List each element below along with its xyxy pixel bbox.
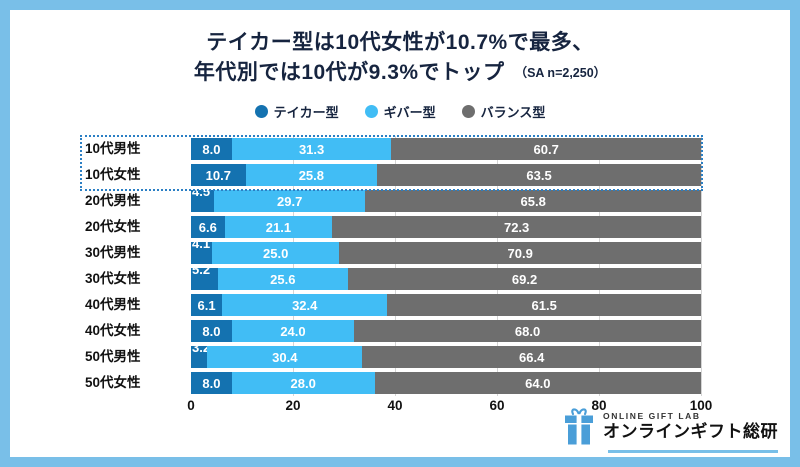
bar-segment-value: 31.3 <box>299 143 324 156</box>
bar-segment-value: 25.0 <box>263 247 288 260</box>
chart-title-line-1: テイカー型は10代女性が10.7%で最多、 <box>10 28 790 58</box>
stacked-bar: 10.725.863.5 <box>191 164 701 186</box>
chart-page: テイカー型は10代女性が10.7%で最多、 年代別では10代が9.3%でトップ（… <box>0 0 800 467</box>
stacked-bar: 8.031.360.7 <box>191 138 701 160</box>
stacked-bar: 3.230.466.4 <box>191 346 701 368</box>
x-axis-tick-label: 40 <box>387 398 402 413</box>
x-axis-tick-label: 0 <box>187 398 195 413</box>
bar-segment-value: 4.5 <box>192 185 210 198</box>
legend-item-3[interactable]: バランス型 <box>462 102 546 121</box>
bar-segment-taker: 10.7 <box>191 164 246 186</box>
chart-bar-row: 30代女性5.225.669.2 <box>10 266 790 292</box>
bar-segment-value: 24.0 <box>280 325 305 338</box>
gift-box-icon <box>564 407 594 445</box>
bar-segment-giver: 31.3 <box>232 138 392 160</box>
bar-segment-giver: 25.6 <box>218 268 349 290</box>
chart-bar-row: 30代男性4.125.070.9 <box>10 240 790 266</box>
bar-segment-balance: 68.0 <box>354 320 701 342</box>
bar-segment-balance: 72.3 <box>332 216 701 238</box>
chart-title-block: テイカー型は10代女性が10.7%で最多、 年代別では10代が9.3%でトップ（… <box>10 28 790 88</box>
brand-logo: ONLINE GIFT LAB オンラインギフト総研 <box>564 407 778 445</box>
bar-row-label: 10代男性 <box>85 136 185 162</box>
circle-marker-icon <box>462 105 475 118</box>
chart-plot-area: 10代男性8.031.360.710代女性10.725.863.520代男性4.… <box>10 136 790 398</box>
chart-title-line-2: 年代別では10代が9.3%でトップ <box>194 58 505 88</box>
bar-segment-value: 6.1 <box>198 299 216 312</box>
bar-row-label: 10代女性 <box>85 162 185 188</box>
legend-item-label: バランス型 <box>481 102 546 121</box>
bar-segment-taker: 3.2 <box>191 346 207 368</box>
bar-segment-value: 72.3 <box>504 221 529 234</box>
bar-segment-value: 25.6 <box>270 273 295 286</box>
brand-logo-text-jp: オンラインギフト総研 <box>603 422 778 442</box>
bar-row-label: 40代男性 <box>85 292 185 318</box>
bar-segment-taker: 6.1 <box>191 294 222 316</box>
chart-bar-row: 40代女性8.024.068.0 <box>10 318 790 344</box>
chart-bar-row: 10代男性8.031.360.7 <box>10 136 790 162</box>
bar-segment-giver: 32.4 <box>222 294 387 316</box>
bar-segment-value: 4.1 <box>192 237 210 250</box>
bar-segment-balance: 70.9 <box>339 242 701 264</box>
bar-segment-value: 8.0 <box>202 143 220 156</box>
bar-segment-giver: 21.1 <box>225 216 333 238</box>
chart-bar-row: 20代女性6.621.172.3 <box>10 214 790 240</box>
chart-legend: テイカー型ギバー型バランス型 <box>10 102 790 121</box>
bar-segment-balance: 69.2 <box>348 268 701 290</box>
stacked-bar: 5.225.669.2 <box>191 268 701 290</box>
bar-segment-value: 8.0 <box>202 377 220 390</box>
bar-segment-giver: 30.4 <box>207 346 362 368</box>
x-axis-tick-label: 60 <box>489 398 504 413</box>
bar-segment-value: 70.9 <box>508 247 533 260</box>
bar-row-label: 50代男性 <box>85 344 185 370</box>
bar-segment-value: 6.6 <box>199 221 217 234</box>
bar-segment-value: 32.4 <box>292 299 317 312</box>
bar-row-label: 30代女性 <box>85 266 185 292</box>
logo-underline-divider <box>608 450 778 453</box>
bar-segment-value: 8.0 <box>202 325 220 338</box>
circle-marker-icon <box>365 105 378 118</box>
bar-segment-taker: 8.0 <box>191 138 232 160</box>
bar-segment-balance: 66.4 <box>362 346 701 368</box>
chart-bar-row: 20代男性4.529.765.8 <box>10 188 790 214</box>
legend-item-1[interactable]: テイカー型 <box>255 102 339 121</box>
bar-segment-taker: 4.5 <box>191 190 214 212</box>
brand-logo-text: ONLINE GIFT LAB オンラインギフト総研 <box>603 411 778 442</box>
stacked-bar: 8.028.064.0 <box>191 372 701 394</box>
stacked-bar: 6.621.172.3 <box>191 216 701 238</box>
bar-segment-value: 68.0 <box>515 325 540 338</box>
bar-segment-giver: 24.0 <box>232 320 354 342</box>
bar-segment-value: 28.0 <box>291 377 316 390</box>
bar-row-label: 30代男性 <box>85 240 185 266</box>
bar-row-label: 40代女性 <box>85 318 185 344</box>
bar-segment-value: 25.8 <box>299 169 324 182</box>
legend-item-label: テイカー型 <box>274 102 339 121</box>
chart-bar-row: 50代女性8.028.064.0 <box>10 370 790 396</box>
bar-segment-balance: 61.5 <box>387 294 701 316</box>
bar-segment-balance: 64.0 <box>375 372 701 394</box>
bar-segment-value: 63.5 <box>526 169 551 182</box>
x-axis-tick-label: 20 <box>285 398 300 413</box>
bar-row-label: 50代女性 <box>85 370 185 396</box>
chart-bar-rows: 10代男性8.031.360.710代女性10.725.863.520代男性4.… <box>10 136 790 396</box>
bar-segment-giver: 25.8 <box>246 164 378 186</box>
stacked-bar: 8.024.068.0 <box>191 320 701 342</box>
chart-bar-row: 50代男性3.230.466.4 <box>10 344 790 370</box>
bar-segment-value: 10.7 <box>206 169 231 182</box>
bar-segment-value: 29.7 <box>277 195 302 208</box>
bar-segment-value: 60.7 <box>534 143 559 156</box>
chart-bar-row: 10代女性10.725.863.5 <box>10 162 790 188</box>
bar-segment-giver: 25.0 <box>212 242 340 264</box>
bar-segment-taker: 4.1 <box>191 242 212 264</box>
bar-segment-balance: 65.8 <box>365 190 701 212</box>
brand-logo-text-en: ONLINE GIFT LAB <box>603 411 778 422</box>
bar-segment-taker: 5.2 <box>191 268 218 290</box>
bar-segment-giver: 29.7 <box>214 190 365 212</box>
bar-segment-value: 64.0 <box>525 377 550 390</box>
bar-segment-value: 65.8 <box>521 195 546 208</box>
bar-segment-balance: 63.5 <box>377 164 701 186</box>
bar-segment-balance: 60.7 <box>391 138 701 160</box>
stacked-bar: 4.125.070.9 <box>191 242 701 264</box>
bar-segment-value: 69.2 <box>512 273 537 286</box>
bar-segment-taker: 6.6 <box>191 216 225 238</box>
bar-segment-giver: 28.0 <box>232 372 375 394</box>
bar-segment-value: 5.2 <box>192 263 210 276</box>
chart-bar-row: 40代男性6.132.461.5 <box>10 292 790 318</box>
bar-segment-taker: 8.0 <box>191 320 232 342</box>
bar-segment-value: 61.5 <box>532 299 557 312</box>
bar-segment-taker: 8.0 <box>191 372 232 394</box>
bar-row-label: 20代男性 <box>85 188 185 214</box>
bar-segment-value: 30.4 <box>272 351 297 364</box>
circle-marker-icon <box>255 105 268 118</box>
bar-row-label: 20代女性 <box>85 214 185 240</box>
legend-item-2[interactable]: ギバー型 <box>365 102 436 121</box>
bar-segment-value: 21.1 <box>266 221 291 234</box>
stacked-bar: 6.132.461.5 <box>191 294 701 316</box>
chart-title-line-2-wrap: 年代別では10代が9.3%でトップ（SA n=2,250） <box>10 58 790 88</box>
stacked-bar: 4.529.765.8 <box>191 190 701 212</box>
bar-segment-value: 66.4 <box>519 351 544 364</box>
legend-item-label: ギバー型 <box>384 102 436 121</box>
chart-sample-size-note: （SA n=2,250） <box>515 66 607 80</box>
